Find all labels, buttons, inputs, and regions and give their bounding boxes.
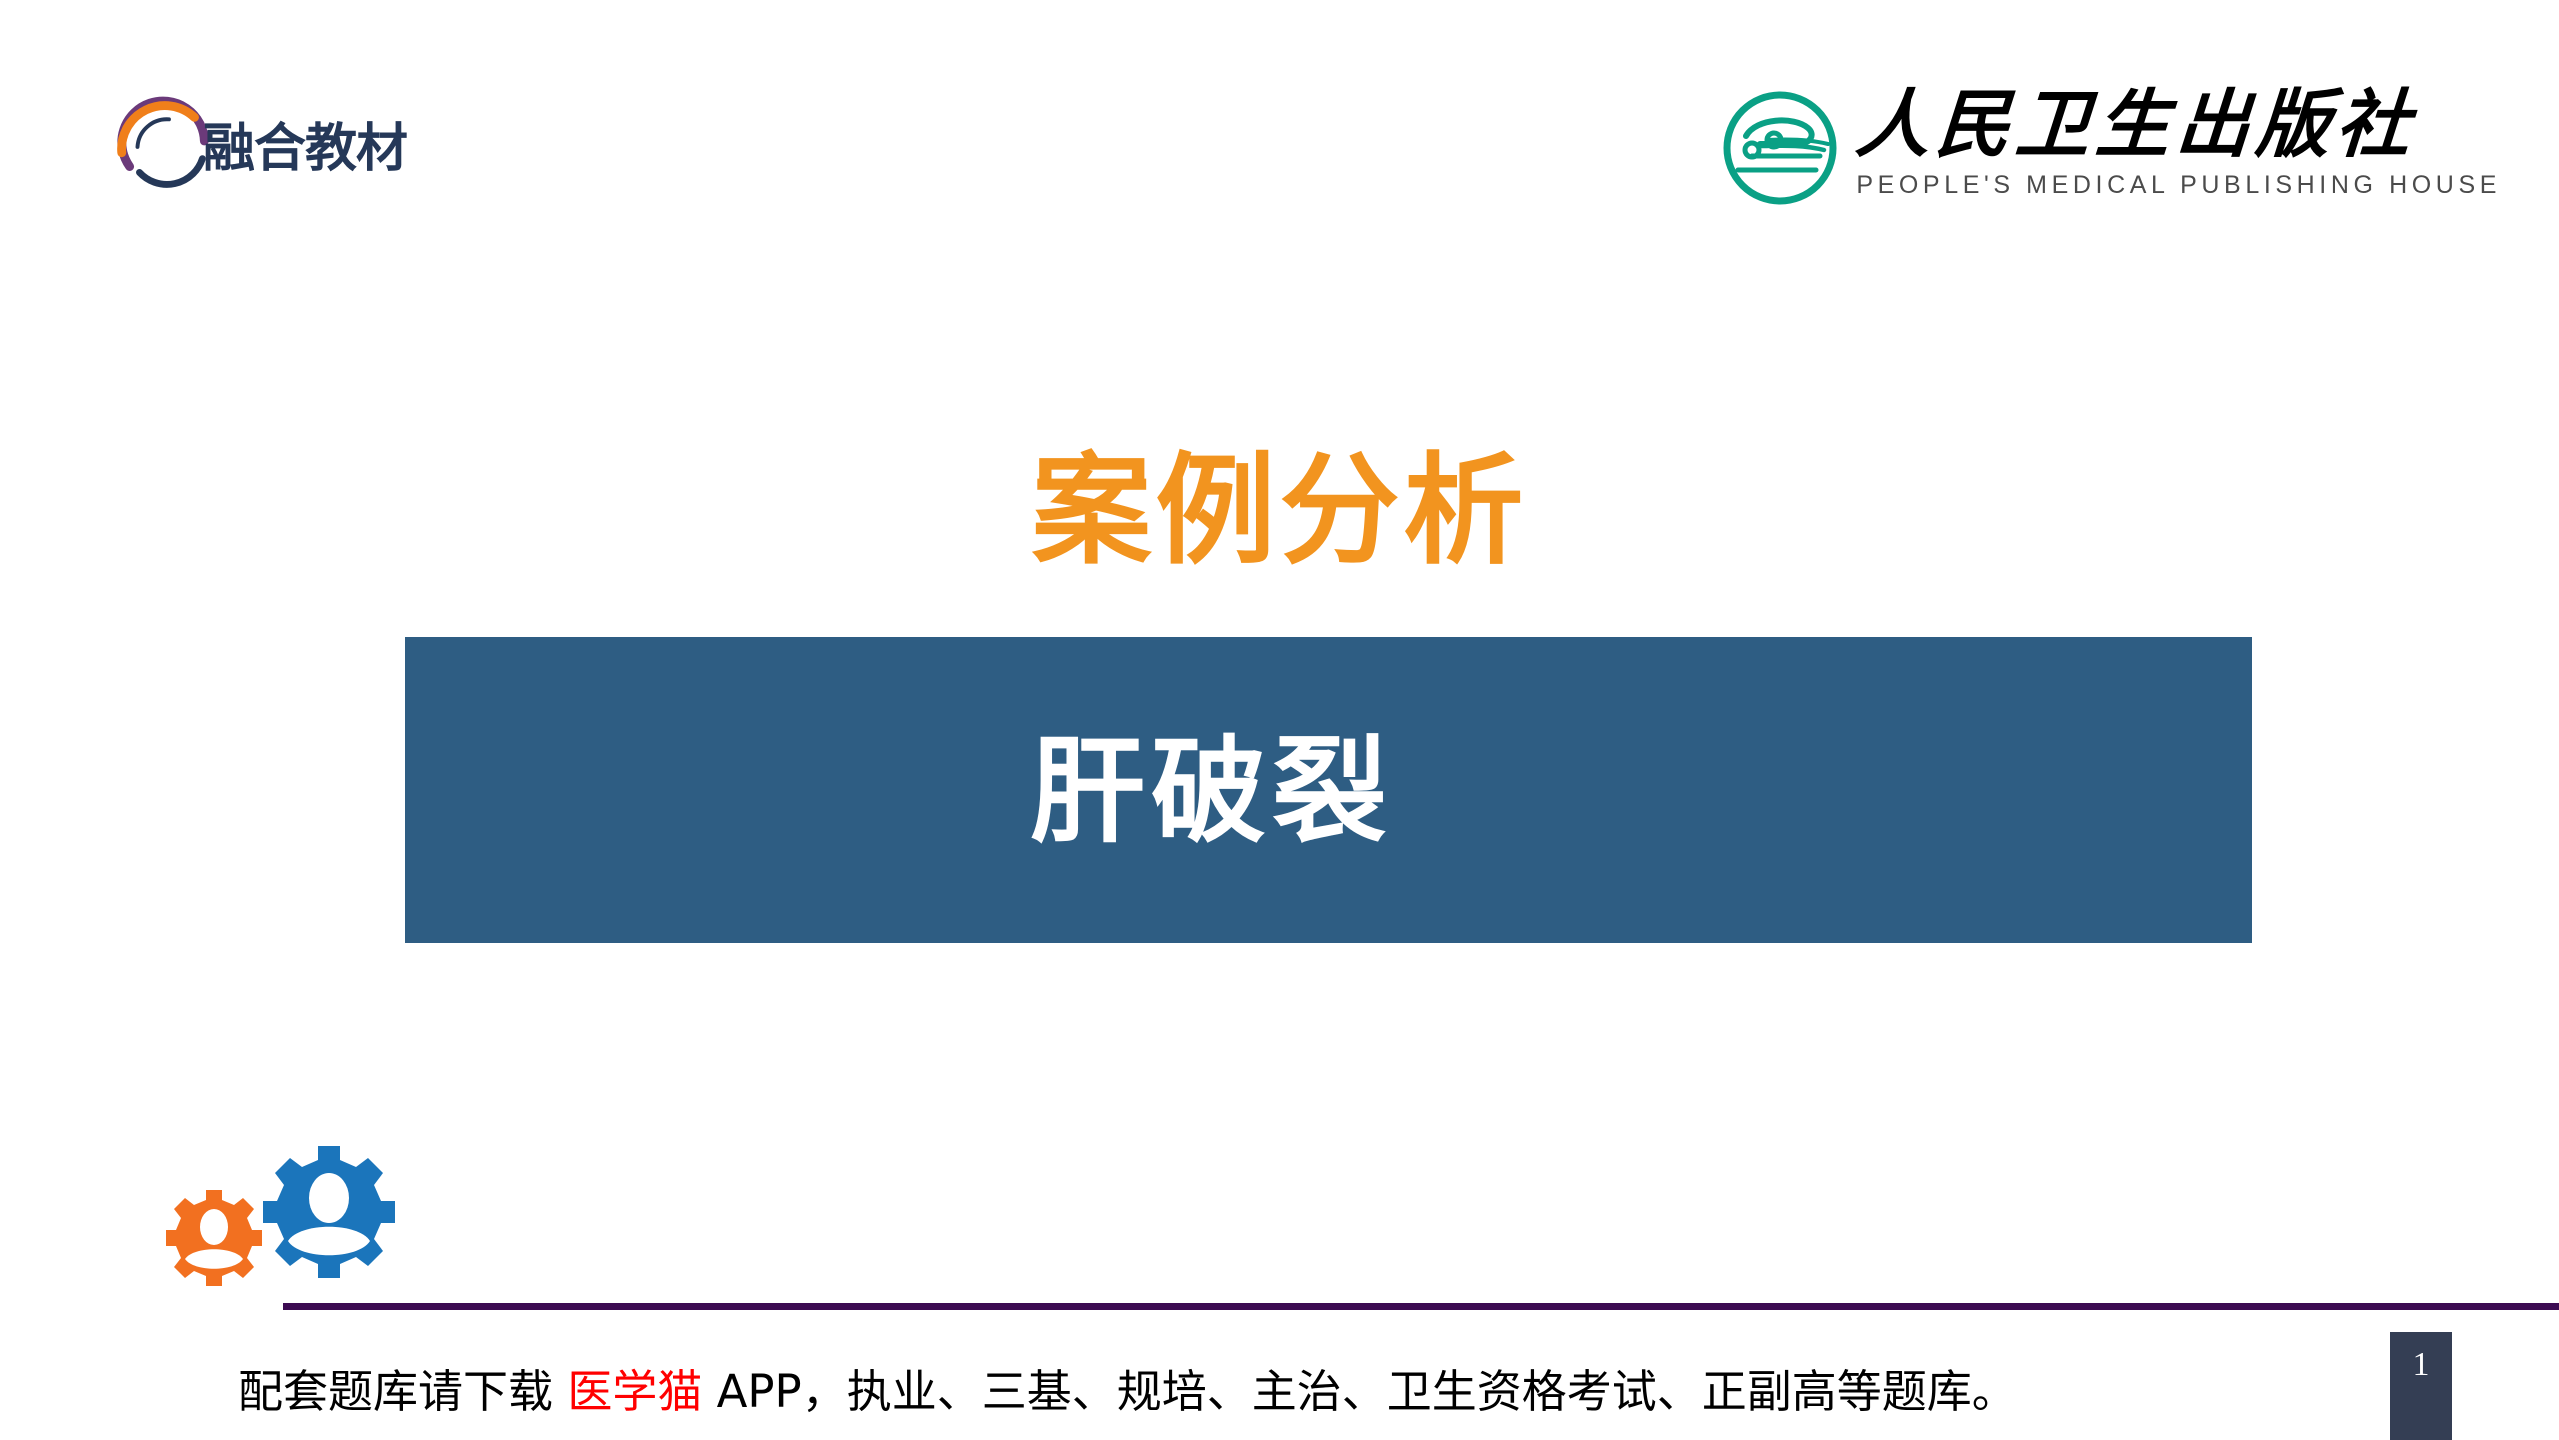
footer-text-after: APP，执业、三基、规培、主治、卫生资格考试、正副高等题库。	[702, 1365, 2016, 1418]
page-number-badge: 1	[2390, 1332, 2452, 1440]
brand-logo-right: 人民卫生出版社 PEOPLE'S MEDICAL PUBLISHING HOUS…	[1716, 88, 2501, 218]
footer-app-name: 医学猫	[567, 1365, 702, 1418]
footer-promo-text: 配套题库请下载 医学猫 APP，执业、三基、规培、主治、卫生资格考试、正副高等题…	[238, 1355, 2017, 1420]
pmph-wordmark: 人民卫生出版社 PEOPLE'S MEDICAL PUBLISHING HOUS…	[1856, 88, 2501, 200]
slide-canvas: 融合教材 人民卫生出版社 PEOPLE'S MEDICAL PUBLISHING…	[0, 0, 2559, 1440]
brand-left-label: 融合教材	[203, 106, 407, 181]
pmph-emblem-icon	[1716, 84, 1844, 212]
brand-logo-left: 融合教材	[108, 78, 408, 198]
pmph-chinese-name: 人民卫生出版社	[1854, 88, 2504, 162]
gear-small-orange	[166, 1190, 262, 1286]
two-gears-with-person-icon	[148, 1128, 418, 1313]
footer-text-before: 配套题库请下载	[238, 1365, 567, 1418]
page-title: 案例分析	[0, 443, 2559, 581]
page-number: 1	[2390, 1346, 2452, 1384]
footer-divider	[283, 1303, 2559, 1310]
gear-large-blue	[263, 1146, 395, 1278]
pmph-english-name: PEOPLE'S MEDICAL PUBLISHING HOUSE	[1856, 171, 2501, 200]
topic-banner-label: 肝破裂	[1030, 735, 1393, 850]
topic-banner: 肝破裂	[405, 637, 2252, 943]
